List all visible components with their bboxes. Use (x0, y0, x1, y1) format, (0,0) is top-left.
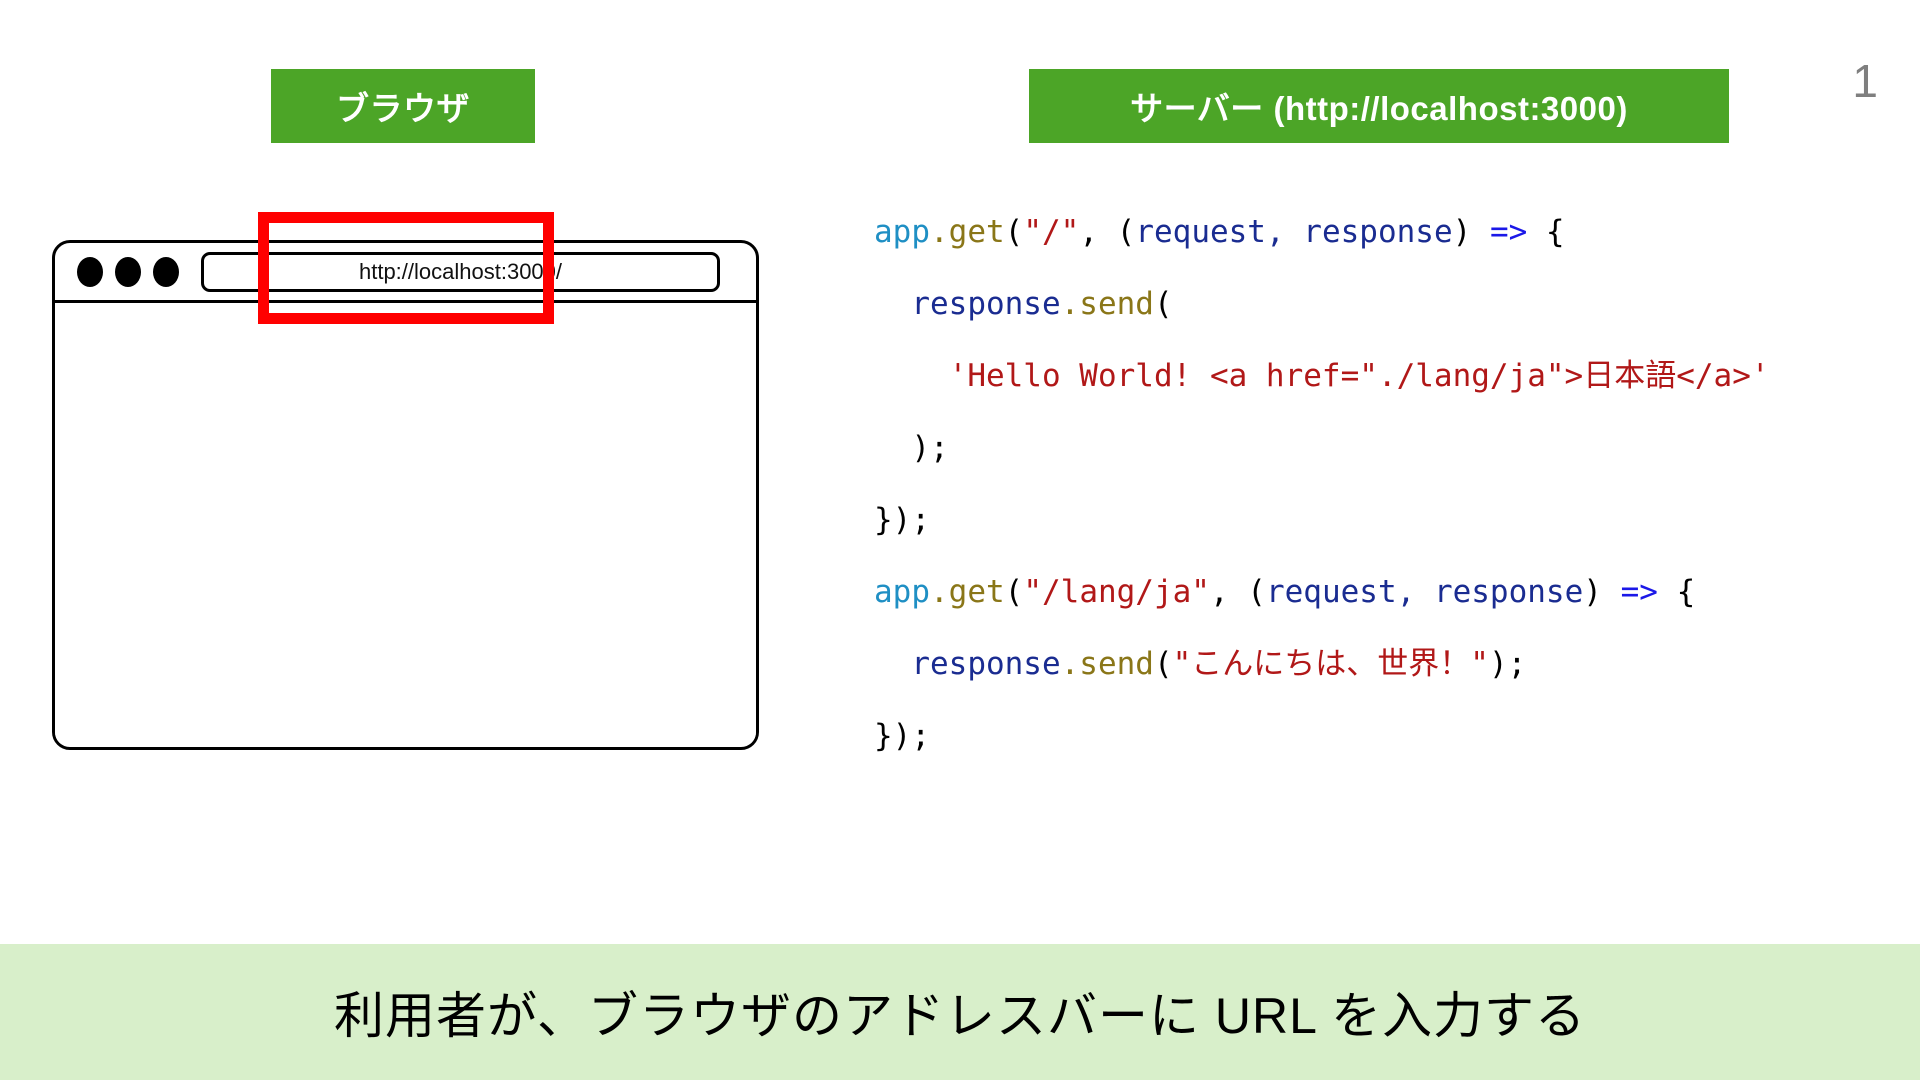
code-token-plain (874, 646, 911, 682)
code-token-param: request, response (1266, 574, 1583, 610)
code-token-plain: { (1527, 214, 1564, 250)
code-token-plain: ) (1583, 574, 1620, 610)
code-line: app.get("/", (request, response) => { (874, 196, 1884, 268)
code-token-method: .get (930, 214, 1005, 250)
code-token-arrow: => (1490, 214, 1527, 250)
code-token-str: "こんにちは、世界！" (1173, 646, 1489, 682)
code-token-plain: ) (1453, 214, 1490, 250)
slide-root: 1 ブラウザ サーバー (http://localhost:3000) http… (0, 0, 1920, 1080)
code-token-plain: ); (1489, 646, 1526, 682)
close-dot-icon[interactable] (77, 257, 103, 287)
code-token-str: 'Hello World! <a href="./lang/ja">日本語</a… (949, 358, 1770, 394)
maximize-dot-icon[interactable] (153, 257, 179, 287)
code-token-str: "/lang/ja" (1023, 574, 1210, 610)
code-token-method: .send (1061, 646, 1154, 682)
code-line: }); (874, 484, 1884, 556)
browser-titlebar: http://localhost:3000/ (55, 243, 756, 303)
code-token-plain: }); (874, 718, 930, 754)
column-header-server-label: サーバー (http://localhost:3000) (1130, 82, 1628, 130)
code-token-obj: app (874, 574, 930, 610)
code-token-plain: , ( (1210, 574, 1266, 610)
code-token-str: "/" (1023, 214, 1079, 250)
code-line: response.send( (874, 268, 1884, 340)
code-token-arrow: => (1621, 574, 1658, 610)
code-line: 'Hello World! <a href="./lang/ja">日本語</a… (874, 340, 1884, 412)
code-line: }); (874, 700, 1884, 772)
code-token-plain: ); (874, 430, 949, 466)
code-token-param: response (911, 646, 1060, 682)
code-line: response.send("こんにちは、世界！"); (874, 628, 1884, 700)
page-number: 1 (1852, 58, 1878, 104)
code-token-method: .send (1061, 286, 1154, 322)
column-header-server: サーバー (http://localhost:3000) (1029, 69, 1729, 143)
code-token-param: response (911, 286, 1060, 322)
browser-viewport (55, 303, 756, 744)
code-token-obj: app (874, 214, 930, 250)
code-token-param: request, response (1135, 214, 1452, 250)
window-traffic-lights (77, 257, 179, 287)
browser-window-mockup: http://localhost:3000/ (52, 240, 759, 750)
code-token-plain: }); (874, 502, 930, 538)
column-header-browser-label: ブラウザ (336, 82, 470, 130)
code-token-plain (874, 286, 911, 322)
minimize-dot-icon[interactable] (115, 257, 141, 287)
code-token-plain: ( (1154, 646, 1173, 682)
column-header-browser: ブラウザ (271, 69, 535, 143)
code-token-plain (874, 358, 949, 394)
code-token-plain: ( (1005, 214, 1024, 250)
server-code-block: app.get("/", (request, response) => { re… (874, 196, 1884, 772)
code-line: ); (874, 412, 1884, 484)
caption-band: 利用者が、ブラウザのアドレスバーに URL を入力する (0, 944, 1920, 1080)
code-token-method: .get (930, 574, 1005, 610)
code-token-plain: ( (1154, 286, 1173, 322)
address-bar[interactable]: http://localhost:3000/ (201, 252, 720, 292)
code-token-plain: , ( (1079, 214, 1135, 250)
code-line: app.get("/lang/ja", (request, response) … (874, 556, 1884, 628)
caption-text: 利用者が、ブラウザのアドレスバーに URL を入力する (334, 976, 1586, 1048)
code-token-plain: ( (1005, 574, 1024, 610)
code-token-plain: { (1658, 574, 1695, 610)
address-bar-input[interactable]: http://localhost:3000/ (359, 259, 562, 285)
